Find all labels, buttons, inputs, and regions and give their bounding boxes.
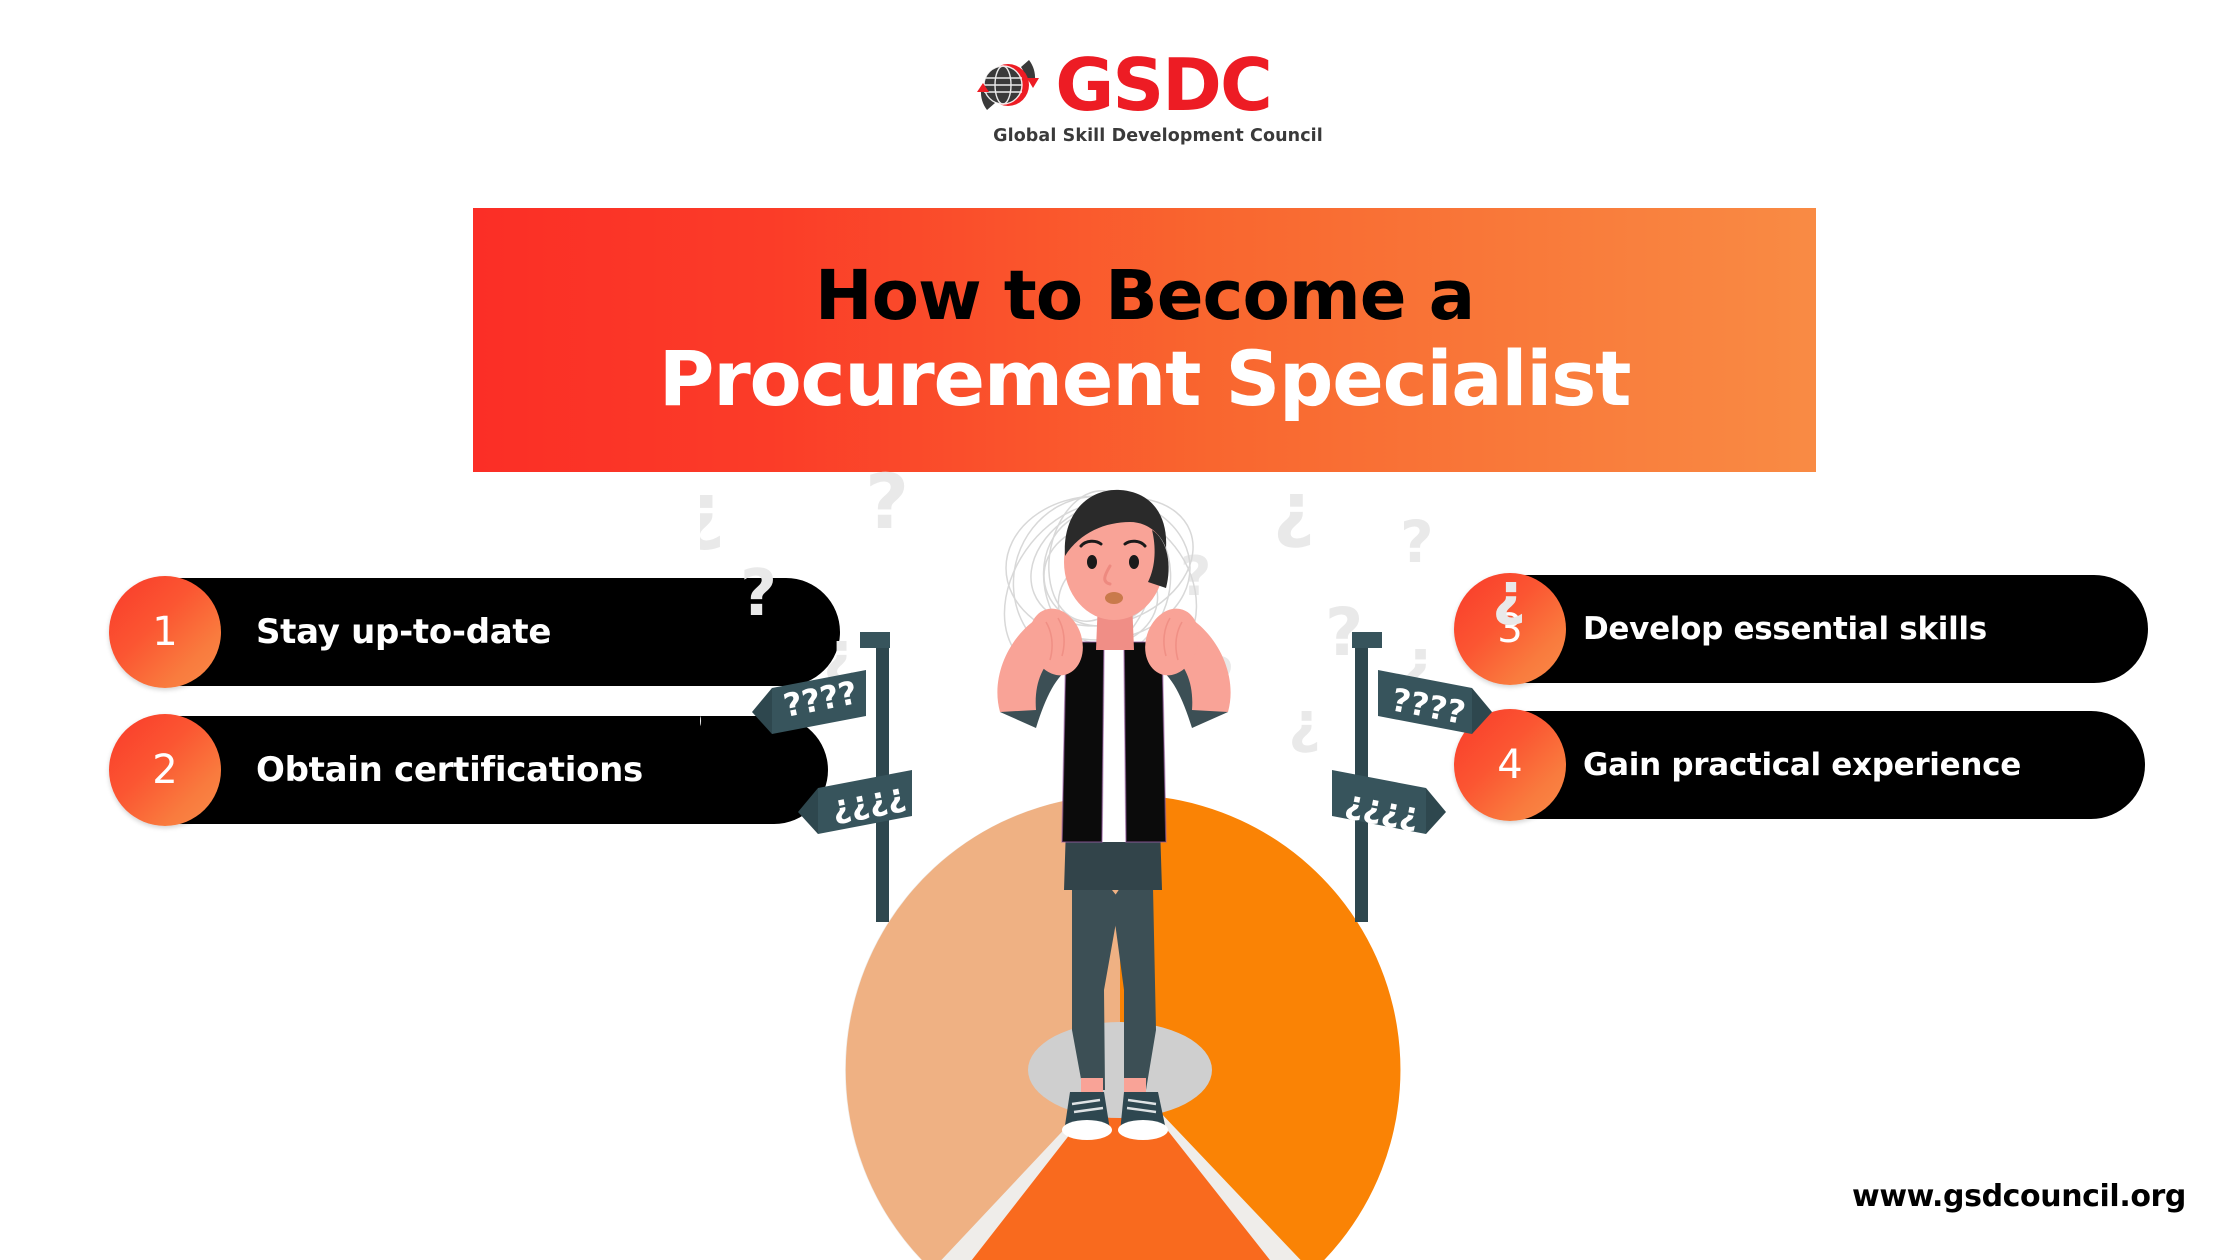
step-item-3[interactable]: 3 Develop essential skills	[1473, 575, 2148, 683]
step-item-4[interactable]: 4 Gain practical experience	[1473, 711, 2145, 819]
step-number-badge-2: 2	[109, 714, 221, 826]
page-title-line2: Procurement Specialist	[659, 339, 1631, 420]
footer-website-url[interactable]: www.gsdcouncil.org	[1852, 1179, 2186, 1214]
svg-text:?: ?	[1289, 697, 1321, 762]
svg-text:?: ?	[740, 557, 777, 631]
brand-logo: GSDC Global Skill Development Council	[0, 46, 2240, 146]
signpost-left-bottom-text: ¿¿¿¿	[828, 775, 908, 826]
svg-text:?: ?	[1400, 508, 1434, 576]
step-number-badge-1: 1	[109, 576, 221, 688]
globe-arrows-icon	[969, 46, 1047, 124]
confused-person-at-crossroads-illustration: ? ? ? ? ? ? ? ? ? ? ? ? ? ?	[700, 470, 1540, 1260]
step-label-3: Develop essential skills	[1583, 611, 1987, 647]
step-label-4: Gain practical experience	[1583, 747, 2021, 783]
logo-tagline: Global Skill Development Council	[993, 126, 1323, 146]
svg-text:?: ?	[1492, 568, 1526, 636]
title-banner: How to Become a Procurement Specialist	[473, 208, 1816, 472]
svg-text:?: ?	[865, 470, 909, 546]
step-label-1: Stay up-to-date	[256, 612, 551, 652]
step-label-2: Obtain certifications	[256, 750, 643, 790]
svg-text:?: ?	[1273, 477, 1315, 561]
svg-text:?: ?	[700, 477, 725, 563]
step-number-1: 1	[152, 612, 177, 652]
svg-text:?: ?	[700, 695, 706, 777]
logo-wordmark: GSDC	[1055, 49, 1271, 121]
page-title-line1: How to Become a	[815, 261, 1474, 333]
step-number-2: 2	[152, 750, 177, 790]
